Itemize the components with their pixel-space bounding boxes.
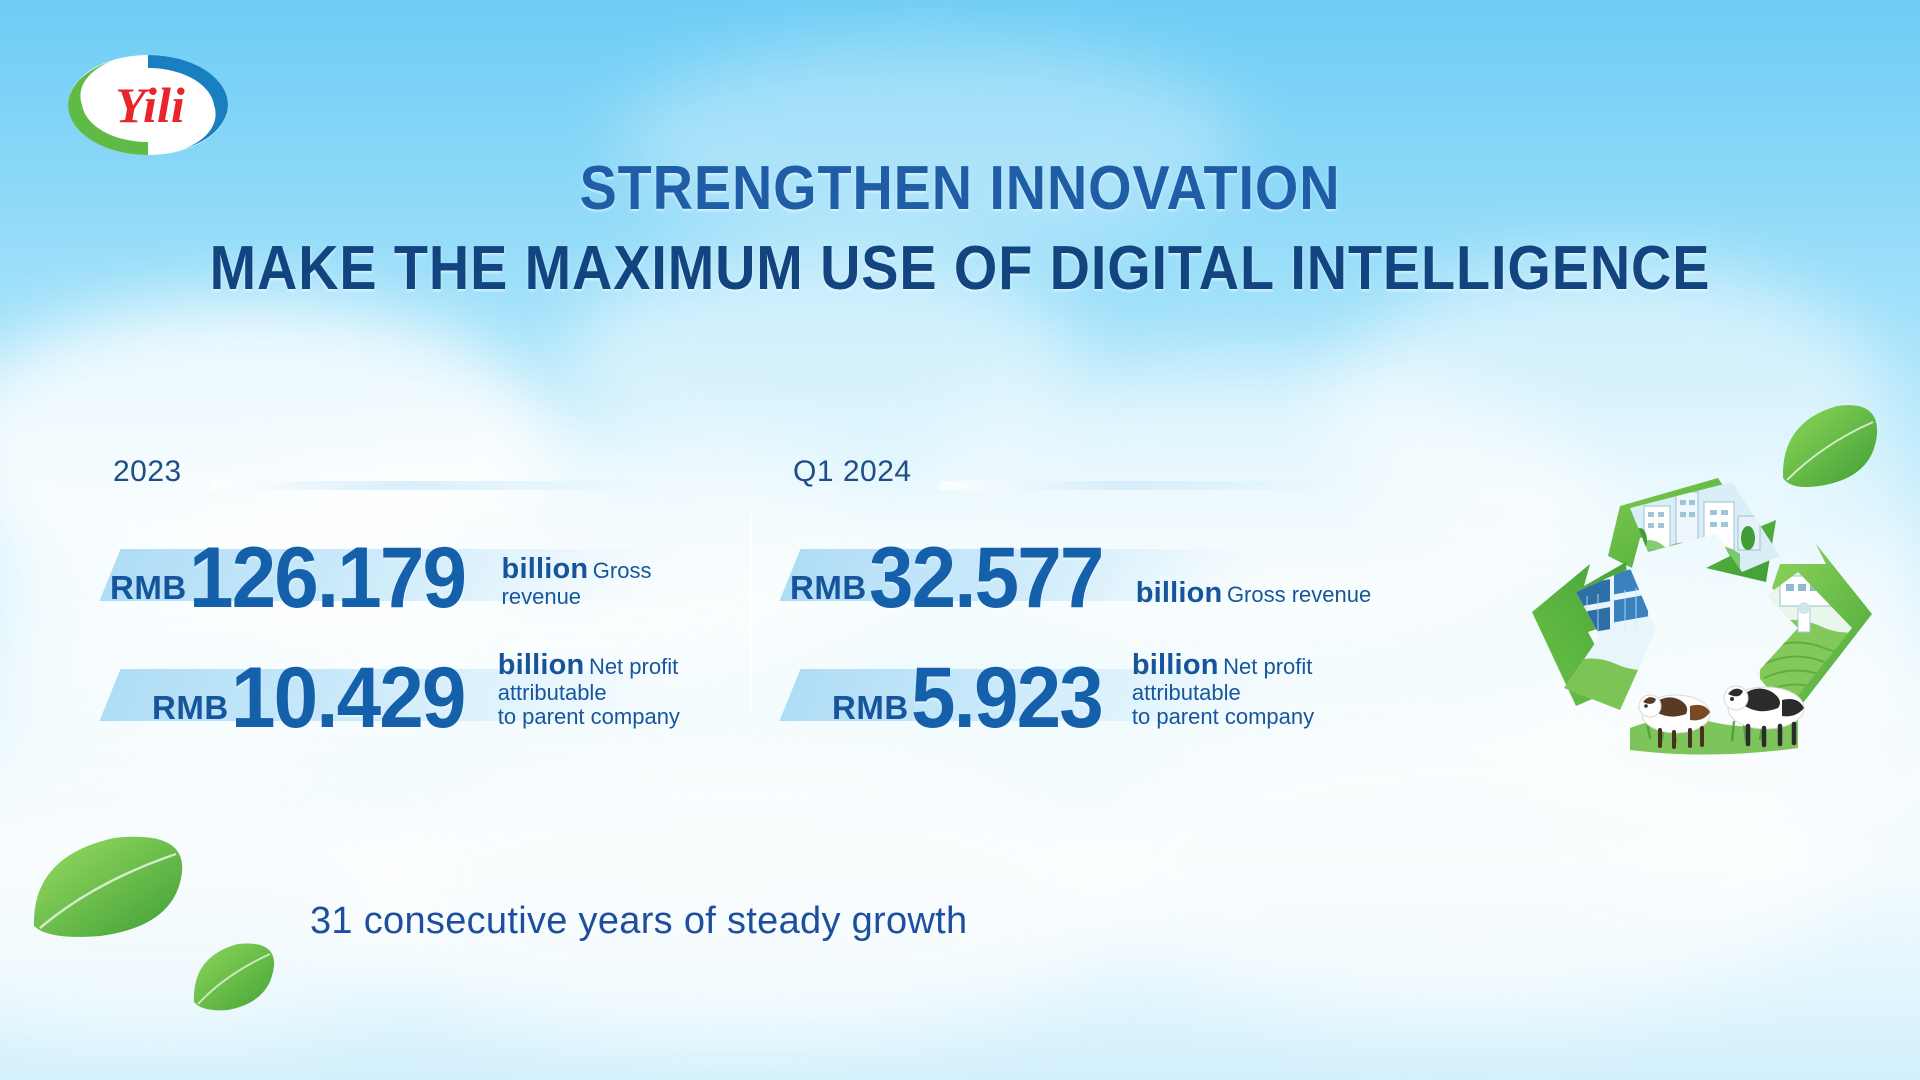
currency-label: RMB [110, 569, 187, 623]
headline-line-1: STRENGTHEN INNOVATION [96, 152, 1824, 226]
stats-column-2023: 2023 RMB 126.179 billion Gross revenue R [110, 455, 730, 743]
stat-description: Gross revenue [1227, 582, 1371, 607]
currency-label: RMB [790, 569, 867, 623]
currency-label: RMB [152, 689, 229, 743]
eco-arrow-city [1608, 478, 1780, 582]
eco-recycling-illustration [1480, 460, 1900, 800]
infographic-canvas: Yili STRENGTHEN INNOVATION MAKE THE MAXI… [0, 0, 1920, 1080]
stat-value: 32.577 [869, 539, 1102, 623]
stat-row: RMB 126.179 billion Gross revenue [110, 503, 730, 623]
stat-value: 126.179 [189, 539, 465, 623]
column-header: Q1 2024 [790, 455, 1410, 503]
column-header: 2023 [110, 455, 730, 503]
currency-label: RMB [832, 689, 909, 743]
stat-unit: billion [1132, 649, 1219, 681]
stat-row: RMB 10.429 billion Net profit attributab… [110, 623, 730, 743]
tagline: 31 consecutive years of steady growth [310, 900, 967, 943]
stat-row: RMB 32.577 billion Gross revenue [790, 503, 1410, 623]
leaf-icon [30, 830, 190, 940]
leaf-icon [1775, 400, 1885, 490]
page-title: STRENGTHEN INNOVATION MAKE THE MAXIMUM U… [0, 152, 1920, 306]
headline-line-2: MAKE THE MAXIMUM USE OF DIGITAL INTELLIG… [96, 232, 1824, 306]
period-label: Q1 2024 [793, 455, 912, 489]
column-divider [750, 487, 752, 737]
header-rule [208, 481, 652, 490]
stat-value: 5.923 [911, 659, 1102, 743]
header-rule [938, 481, 1342, 490]
stat-unit: billion [502, 553, 589, 585]
leaf-icon [190, 940, 280, 1012]
stat-unit: billion [498, 649, 585, 681]
logo-wordmark: Yili [115, 77, 185, 133]
stat-row: RMB 5.923 billion Net profit attributabl… [790, 623, 1410, 743]
stat-unit: billion [1136, 577, 1223, 609]
period-label: 2023 [113, 455, 182, 489]
stats-column-q1-2024: Q1 2024 RMB 32.577 billion Gross revenue [790, 455, 1410, 743]
yili-logo: Yili [64, 50, 232, 160]
stat-value: 10.429 [231, 659, 464, 743]
